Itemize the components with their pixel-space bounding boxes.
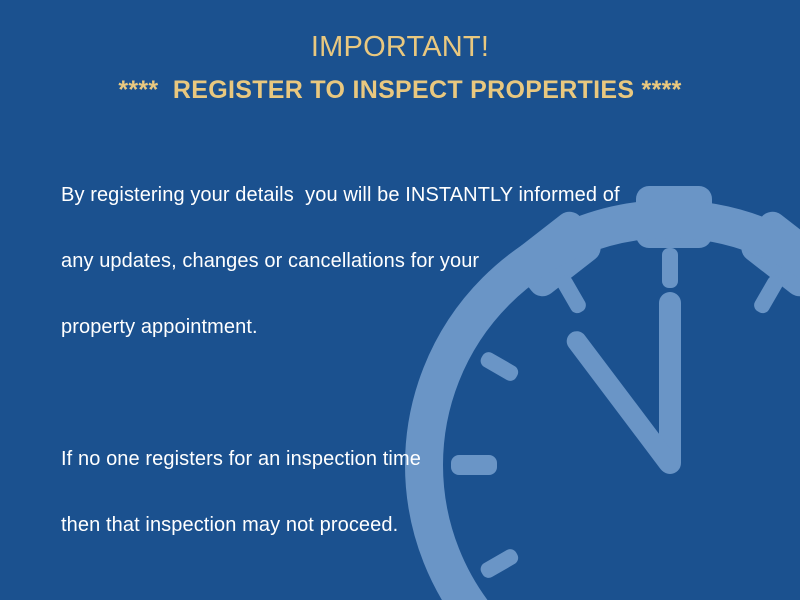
paragraph1-line3: property appointment. [61,312,721,342]
slide-canvas: IMPORTANT! **** REGISTER TO INSPECT PROP… [0,0,800,600]
slide-body: By registering your details you will be … [61,144,721,600]
paragraph1-line2: any updates, changes or cancellations fo… [61,246,721,276]
paragraph2-line1: If no one registers for an inspection ti… [61,444,721,474]
slide-heading: IMPORTANT! **** REGISTER TO INSPECT PROP… [0,28,800,110]
slide-content: IMPORTANT! **** REGISTER TO INSPECT PROP… [0,0,800,600]
heading-line-important: IMPORTANT! [0,28,800,66]
paragraph2-line2: then that inspection may not proceed. [61,510,721,540]
heading-line-register: **** REGISTER TO INSPECT PROPERTIES **** [0,70,800,110]
paragraph-registering-benefits: By registering your details you will be … [61,144,721,378]
paragraph-no-registration-warning: If no one registers for an inspection ti… [61,408,721,576]
paragraph1-line1: By registering your details you will be … [61,180,721,210]
